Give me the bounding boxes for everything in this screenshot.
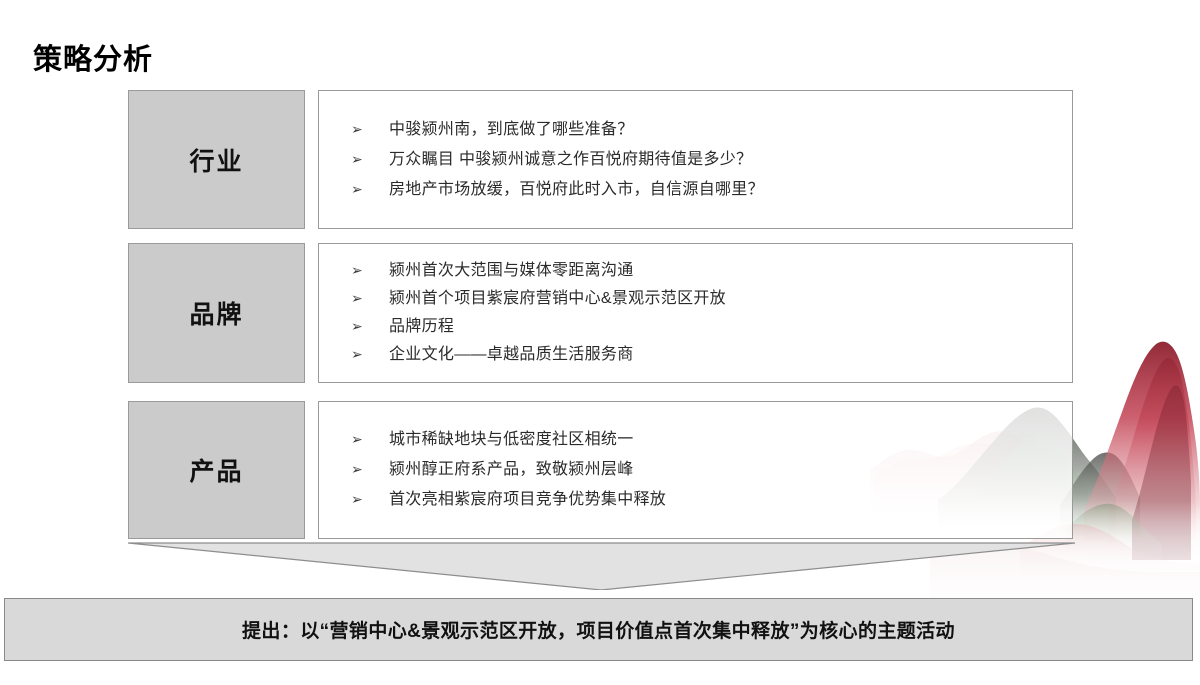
arrow-bullet-icon: ➢ xyxy=(351,263,389,277)
category-label-brand: 品牌 xyxy=(189,295,243,331)
list-item-text: 城市稀缺地块与低密度社区相统一 xyxy=(389,432,1054,448)
category-label-industry: 行业 xyxy=(189,142,243,178)
list-item: ➢ 房地产市场放缓，百悦府此时入市，自信源自哪里？ xyxy=(351,175,1054,205)
arrow-bullet-icon: ➢ xyxy=(351,319,389,333)
conclusion-text: 提出：以“营销中心&景观示范区开放，项目价值点首次集中释放”为核心的主题活动 xyxy=(242,616,955,643)
list-item: ➢ 首次亮相紫宸府项目竞争优势集中释放 xyxy=(351,485,1054,515)
list-item-text: 颍州首个项目紫宸府营销中心&景观示范区开放 xyxy=(389,291,1054,307)
list-item: ➢ 城市稀缺地块与低密度社区相统一 xyxy=(351,425,1054,455)
items-box-industry: ➢ 中骏颍州南，到底做了哪些准备？ ➢ 万众瞩目 中骏颍州诚意之作百悦府期待值是… xyxy=(318,90,1073,229)
list-item: ➢ 颍州首个项目紫宸府营销中心&景观示范区开放 xyxy=(351,285,1054,313)
category-label-product: 产品 xyxy=(189,452,243,488)
list-item-text: 万众瞩目 中骏颍州诚意之作百悦府期待值是多少？ xyxy=(389,152,1054,168)
list-item-text: 颍州醇正府系产品，致敬颍州层峰 xyxy=(389,462,1054,478)
arrow-bullet-icon: ➢ xyxy=(351,291,389,305)
list-item-text: 房地产市场放缓，百悦府此时入市，自信源自哪里？ xyxy=(389,182,1054,198)
arrow-bullet-icon: ➢ xyxy=(351,462,389,476)
items-box-brand: ➢ 颍州首次大范围与媒体零距离沟通 ➢ 颍州首个项目紫宸府营销中心&景观示范区开… xyxy=(318,243,1073,383)
list-item: ➢ 颍州醇正府系产品，致敬颍州层峰 xyxy=(351,455,1054,485)
funnel-down-arrow-icon xyxy=(128,540,1075,590)
list-item: ➢ 万众瞩目 中骏颍州诚意之作百悦府期待值是多少？ xyxy=(351,145,1054,175)
list-item-text: 中骏颍州南，到底做了哪些准备？ xyxy=(389,122,1054,138)
page-title: 策略分析 xyxy=(33,36,153,78)
category-box-product[interactable]: 产品 xyxy=(128,401,305,539)
arrow-bullet-icon: ➢ xyxy=(351,432,389,446)
list-item: ➢ 中骏颍州南，到底做了哪些准备？ xyxy=(351,115,1054,145)
arrow-bullet-icon: ➢ xyxy=(351,122,389,136)
section-row-product: 产品 ➢ 城市稀缺地块与低密度社区相统一 ➢ 颍州醇正府系产品，致敬颍州层峰 ➢… xyxy=(128,401,1073,539)
category-box-brand[interactable]: 品牌 xyxy=(128,243,305,383)
items-box-product: ➢ 城市稀缺地块与低密度社区相统一 ➢ 颍州醇正府系产品，致敬颍州层峰 ➢ 首次… xyxy=(318,401,1073,539)
arrow-bullet-icon: ➢ xyxy=(351,152,389,166)
category-box-industry[interactable]: 行业 xyxy=(128,90,305,229)
section-row-industry: 行业 ➢ 中骏颍州南，到底做了哪些准备？ ➢ 万众瞩目 中骏颍州诚意之作百悦府期… xyxy=(128,90,1073,229)
list-item-text: 品牌历程 xyxy=(389,319,1054,335)
list-item-text: 企业文化——卓越品质生活服务商 xyxy=(389,347,1054,363)
list-item-text: 首次亮相紫宸府项目竞争优势集中释放 xyxy=(389,492,1054,508)
arrow-bullet-icon: ➢ xyxy=(351,182,389,196)
arrow-bullet-icon: ➢ xyxy=(351,492,389,506)
list-item: ➢ 颍州首次大范围与媒体零距离沟通 xyxy=(351,257,1054,285)
list-item: ➢ 企业文化——卓越品质生活服务商 xyxy=(351,341,1054,369)
list-item-text: 颍州首次大范围与媒体零距离沟通 xyxy=(389,263,1054,279)
list-item: ➢ 品牌历程 xyxy=(351,313,1054,341)
conclusion-banner: 提出：以“营销中心&景观示范区开放，项目价值点首次集中释放”为核心的主题活动 xyxy=(4,598,1193,661)
arrow-bullet-icon: ➢ xyxy=(351,347,389,361)
section-row-brand: 品牌 ➢ 颍州首次大范围与媒体零距离沟通 ➢ 颍州首个项目紫宸府营销中心&景观示… xyxy=(128,243,1073,383)
slide-canvas: 策略分析 行业 ➢ 中骏颍州南，到底做了哪些准备？ ➢ 万众瞩目 中骏颍州诚意之… xyxy=(0,0,1200,685)
